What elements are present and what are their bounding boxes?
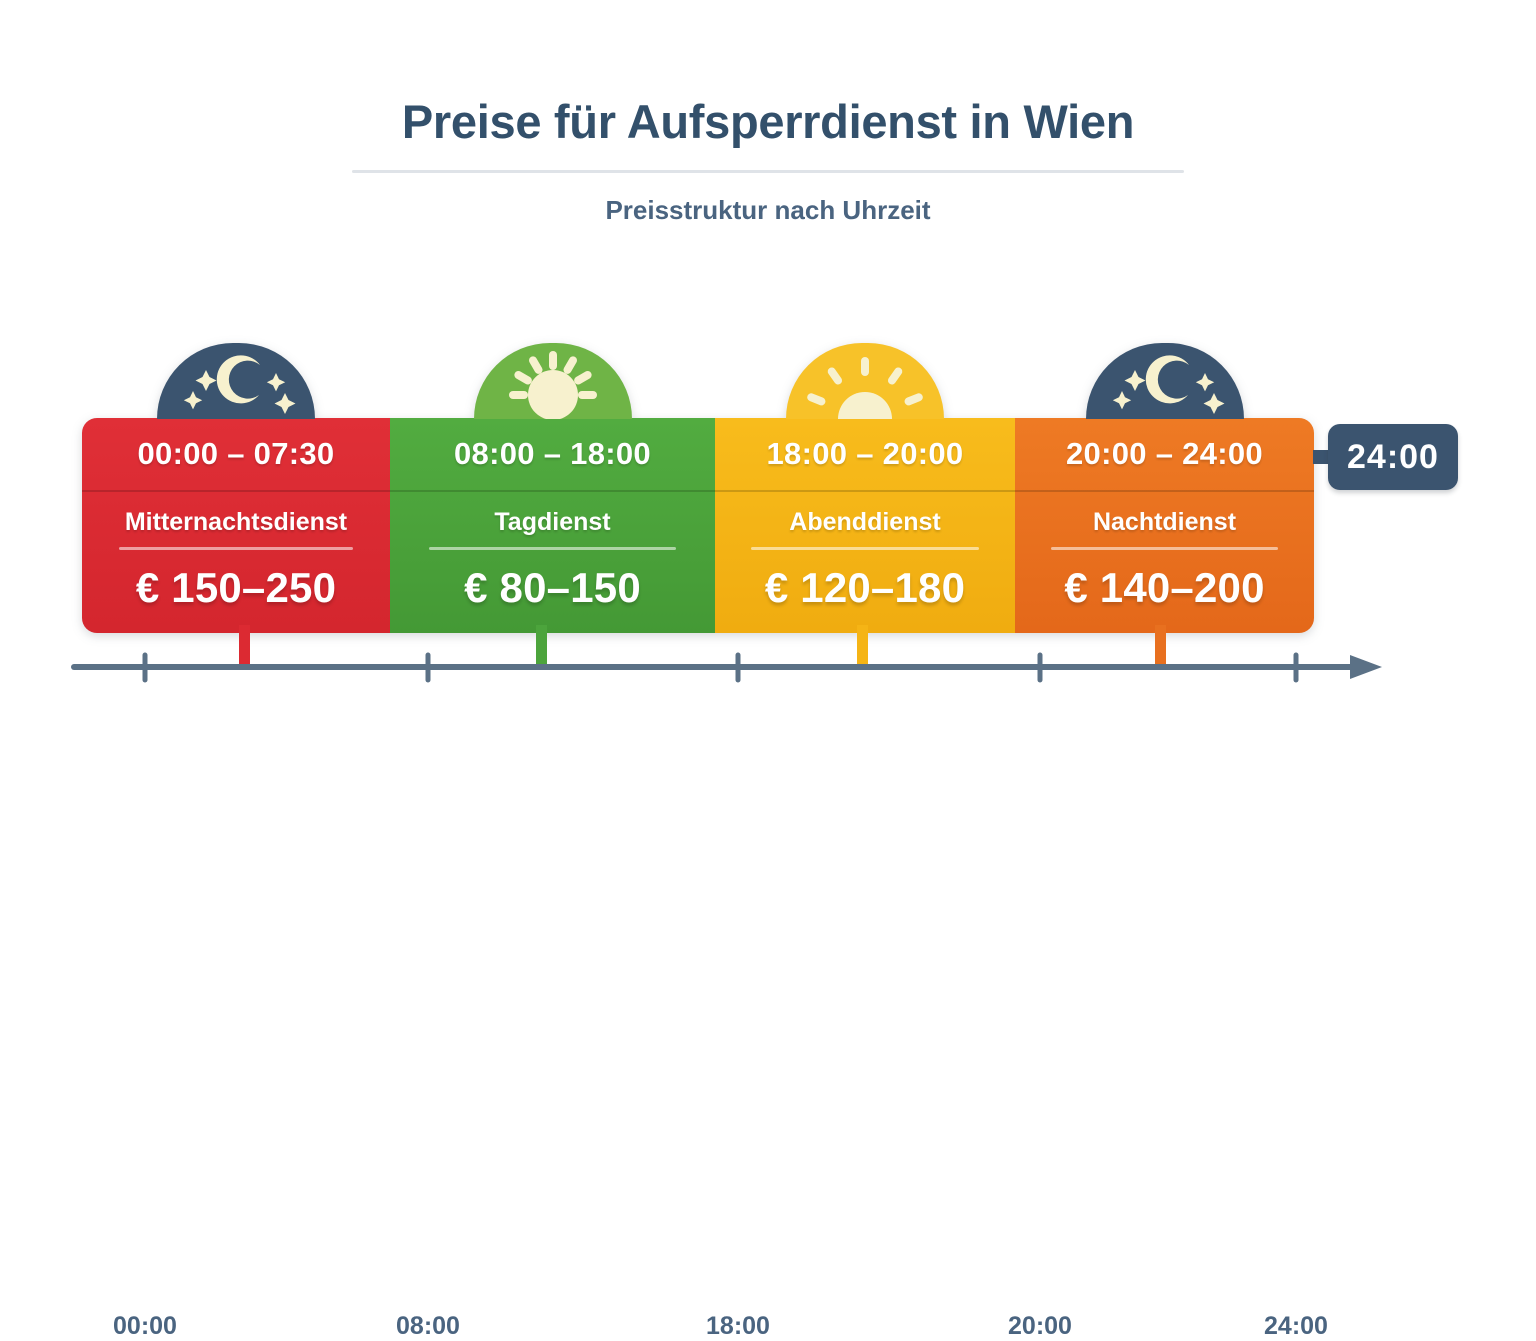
timeline-bar: 00:00 – 07:30 Mitternachtsdienst € 150–2… [82, 418, 1314, 633]
segment-time-range: 18:00 – 20:00 [715, 418, 1015, 492]
axis-tick-label: 08:00 [396, 1312, 460, 1341]
timeline-segment-nachtdienst[interactable]: 20:00 – 24:00 Nachtdienst € 140–200 [1015, 418, 1314, 633]
segment-service-label: Abenddienst [789, 508, 940, 537]
end-time-badge: 24:00 [1328, 424, 1458, 490]
segment-price: € 80–150 [464, 564, 641, 612]
page-title: Preise für Aufsperrdienst in Wien [0, 96, 1536, 148]
time-axis: 00:00 08:00 18:00 20:00 24:00 [0, 625, 1536, 755]
segment-divider [429, 547, 676, 550]
header: Preise für Aufsperrdienst in Wien Preiss… [0, 96, 1536, 226]
segment-time-range: 20:00 – 24:00 [1015, 418, 1314, 492]
axis-tick-label: 24:00 [1264, 1312, 1328, 1341]
axis-line-graphic [0, 625, 1536, 705]
axis-tick-label: 18:00 [706, 1312, 770, 1341]
price-timeline: 00:00 – 07:30 Mitternachtsdienst € 150–2… [82, 418, 1314, 633]
page-subtitle: Preisstruktur nach Uhrzeit [0, 195, 1536, 226]
segment-service-label: Nachtdienst [1093, 508, 1236, 537]
segment-service-label: Mitternachtsdienst [125, 508, 347, 537]
axis-tick-label: 00:00 [113, 1312, 177, 1341]
sun-icon [474, 343, 632, 419]
moon-stars-icon [157, 343, 315, 419]
segment-service-label: Tagdienst [494, 508, 610, 537]
sunset-icon [786, 343, 944, 419]
segment-divider [119, 547, 353, 550]
segment-price: € 140–200 [1064, 564, 1264, 612]
segment-divider [1051, 547, 1278, 550]
segment-divider [751, 547, 979, 550]
infographic-canvas: Preise für Aufsperrdienst in Wien Preiss… [0, 0, 1536, 1024]
segment-price: € 120–180 [765, 564, 965, 612]
segment-time-range: 00:00 – 07:30 [82, 418, 390, 492]
axis-tick-label: 20:00 [1008, 1312, 1072, 1341]
segment-time-range: 08:00 – 18:00 [390, 418, 715, 492]
segment-price: € 150–250 [136, 564, 336, 612]
timeline-segment-tagdienst[interactable]: 08:00 – 18:00 Tagdienst € 80–150 [390, 418, 715, 633]
title-divider [352, 170, 1184, 173]
timeline-segment-mitternachtsdienst[interactable]: 00:00 – 07:30 Mitternachtsdienst € 150–2… [82, 418, 390, 633]
timeline-segment-abenddienst[interactable]: 18:00 – 20:00 Abenddienst € 120–180 [715, 418, 1015, 633]
moon-stars-icon [1086, 343, 1244, 419]
